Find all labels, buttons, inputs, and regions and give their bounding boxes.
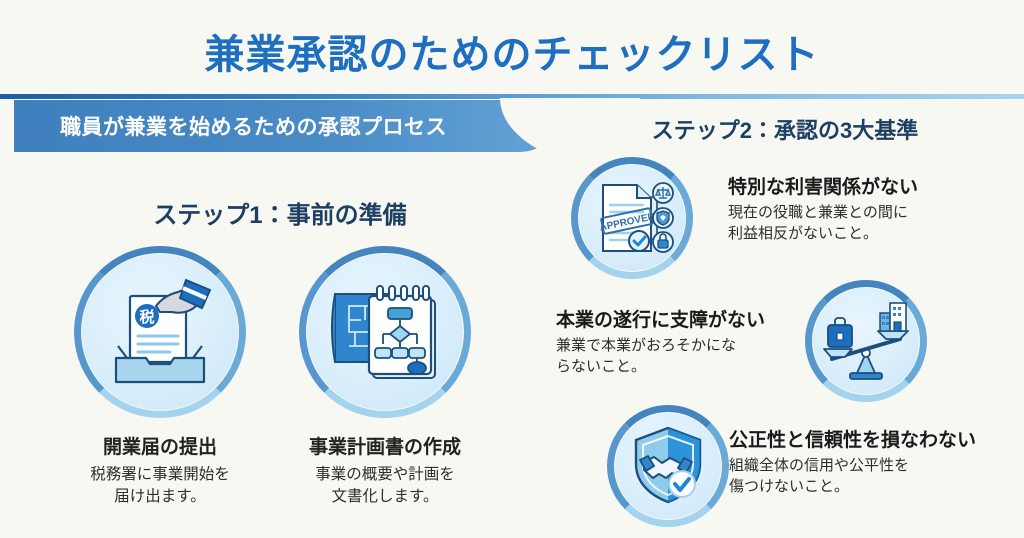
briefcase-building-balance-icon <box>813 288 919 394</box>
criterion-1-title: 特別な利害関係がない <box>728 172 1018 199</box>
blueprint-notepad-flowchart-icon <box>307 254 463 410</box>
criterion-3-title: 公正性と信頼性を損なわない <box>729 425 1024 452</box>
header-rule <box>0 94 1024 99</box>
criterion-1-desc-line1: 現在の役職と兼業との間に <box>728 202 1018 223</box>
step1-item-1-desc-line2: 届け出ます。 <box>40 486 280 508</box>
step1-heading: ステップ1：事前の準備 <box>0 195 560 230</box>
shield-handshake-check-icon <box>615 413 721 519</box>
criterion-2-desc-line1: 兼業で本業がおろそかにな <box>556 335 806 356</box>
criterion-2-desc-line2: らないこと。 <box>556 356 806 377</box>
step1-item-2-desc-line1: 事業の概要や計画を <box>265 464 505 486</box>
step1-item-1-desc-line1: 税務署に事業開始を <box>40 464 280 486</box>
step1-item-2-caption: 事業計画書の作成 事業の概要や計画を 文書化します。 <box>265 432 505 509</box>
infographic-canvas: 兼業承認のためのチェックリスト 職員が兼業を始めるための承認プロセス ステップ1… <box>0 0 1024 538</box>
criterion-2-title: 本業の遂行に支障がない <box>556 305 806 332</box>
criterion-3-desc-line2: 傷つけないこと。 <box>729 476 1024 497</box>
page-title: 兼業承認のためのチェックリスト <box>0 22 1024 80</box>
criterion-1-desc-line2: 利益相反がないこと。 <box>728 223 1018 244</box>
step1-item-1-caption: 開業届の提出 税務署に事業開始を 届け出ます。 <box>40 432 280 509</box>
criterion-3-desc-line1: 組織全体の信用や公平性を <box>729 455 1024 476</box>
step1-item-1-title: 開業届の提出 <box>40 432 280 459</box>
hand-submitting-tax-document-icon: 税 <box>82 254 238 410</box>
step1-item-2-title: 事業計画書の作成 <box>265 432 505 459</box>
step1-item-2-desc-line2: 文書化します。 <box>265 486 505 508</box>
svg-text:税: 税 <box>139 308 154 326</box>
criterion-2-text: 本業の遂行に支障がない 兼業で本業がおろそかにな らないこと。 <box>556 305 806 378</box>
process-banner: 職員が兼業を始めるための承認プロセス <box>14 100 565 152</box>
criterion-1-text: 特別な利害関係がない 現在の役職と兼業との間に 利益相反がないこと。 <box>728 172 1018 245</box>
approved-document-icon: APPROVED <box>579 165 685 271</box>
criterion-3-text: 公正性と信頼性を損なわない 組織全体の信用や公平性を 傷つけないこと。 <box>729 425 1024 498</box>
step2-heading: ステップ2：承認の3大基準 <box>565 113 1005 145</box>
process-banner-label: 職員が兼業を始めるための承認プロセス <box>60 111 447 141</box>
